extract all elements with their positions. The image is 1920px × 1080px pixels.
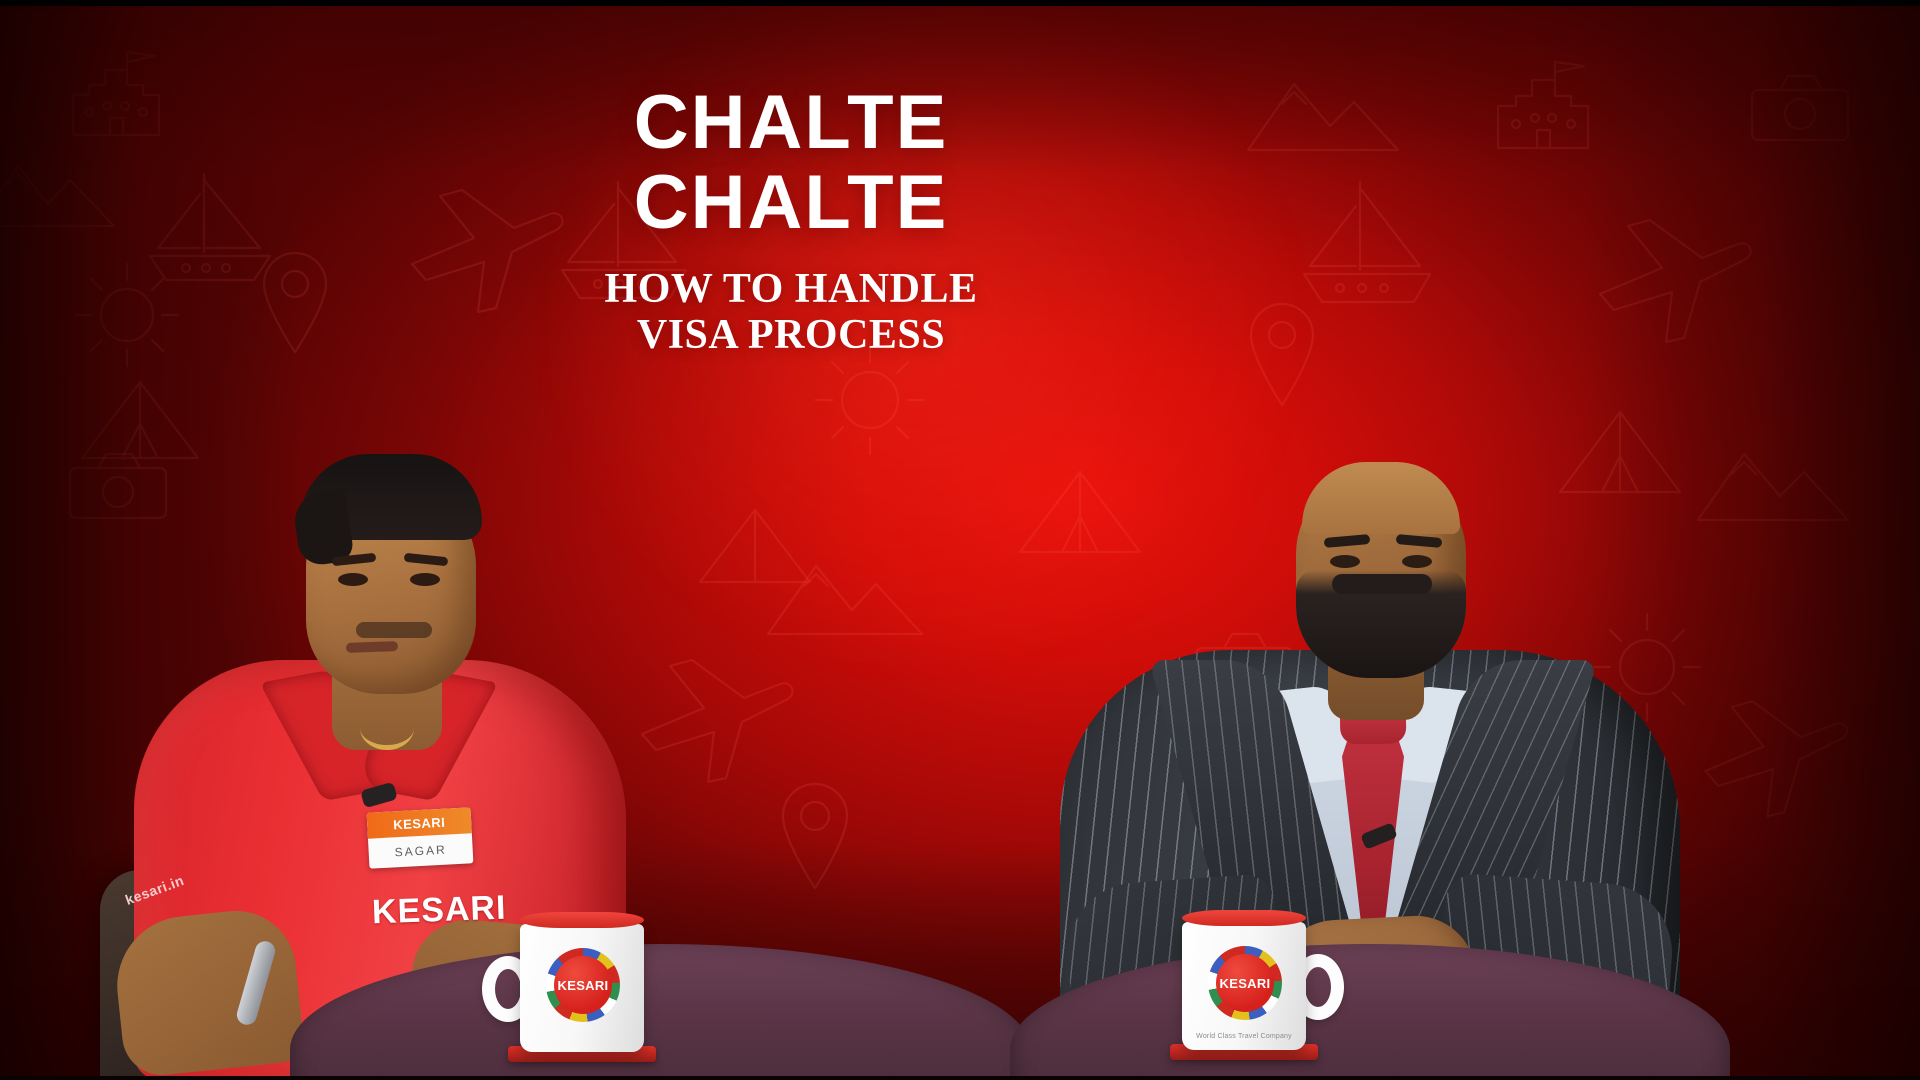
moustache bbox=[1332, 574, 1432, 594]
eye-left bbox=[1330, 555, 1360, 568]
mug-logo-inner-right: KESARI bbox=[1216, 954, 1274, 1012]
branded-mug-left: KESARI bbox=[520, 902, 670, 1052]
mouth bbox=[346, 641, 398, 653]
neck-chain bbox=[360, 706, 414, 750]
episode-subtitle-line-2: VISA PROCESS bbox=[566, 313, 1016, 358]
mug-logo-inner-left: KESARI bbox=[554, 956, 612, 1014]
eye-left bbox=[338, 573, 368, 586]
mug-logo-left: KESARI bbox=[546, 948, 620, 1022]
mug-rim-right bbox=[1182, 910, 1306, 926]
shirt-chest-logo: KESARI bbox=[371, 889, 507, 933]
title-block: CHALTE CHALTE HOW TO HANDLE VISA PROCESS bbox=[566, 86, 1016, 358]
bald-head bbox=[1302, 462, 1460, 534]
name-badge: KESARI SAGAR bbox=[367, 807, 474, 868]
mug-body-right: KESARI World Class Travel Company bbox=[1182, 922, 1306, 1050]
frame-edge-bottom bbox=[0, 1076, 1920, 1080]
mug-rim-left bbox=[520, 912, 644, 928]
branded-mug-right: KESARI World Class Travel Company bbox=[1182, 900, 1332, 1050]
moustache bbox=[356, 622, 432, 638]
show-title-line-2: CHALTE bbox=[566, 166, 1016, 240]
eye-right bbox=[1402, 555, 1432, 568]
episode-subtitle-line-1: HOW TO HANDLE bbox=[566, 267, 1016, 312]
mug-logo-label-right: KESARI bbox=[1220, 976, 1271, 991]
show-title-line-1: CHALTE bbox=[566, 86, 1016, 160]
badge-brand-label: KESARI bbox=[393, 814, 446, 832]
mug-logo-label-left: KESARI bbox=[558, 978, 609, 993]
eye-right bbox=[410, 573, 440, 586]
video-frame: CHALTE CHALTE HOW TO HANDLE VISA PROCESS… bbox=[0, 0, 1920, 1080]
badge-name-label: SAGAR bbox=[394, 843, 447, 860]
mug-tagline-right: World Class Travel Company bbox=[1182, 1033, 1306, 1040]
mug-logo-right: KESARI bbox=[1208, 946, 1282, 1020]
frame-edge-top bbox=[0, 0, 1920, 6]
badge-name-strip: SAGAR bbox=[368, 833, 473, 868]
mug-body-left: KESARI bbox=[520, 924, 644, 1052]
